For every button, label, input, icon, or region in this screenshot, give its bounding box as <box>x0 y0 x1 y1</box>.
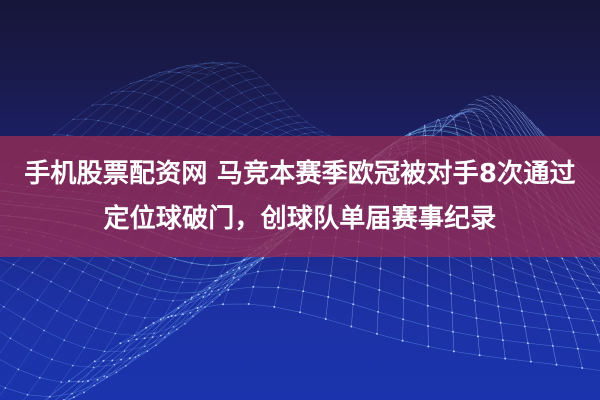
headline-block: 手机股票配资网 马竞本赛季欧冠被对手8次通过 定位球破门，创球队单届赛事纪录 <box>0 136 600 257</box>
headline-line-1: 手机股票配资网 马竞本赛季欧冠被对手8次通过 <box>24 152 576 197</box>
headline-line-2: 定位球破门，创球队单届赛事纪录 <box>103 197 496 242</box>
news-banner: 手机股票配资网 马竞本赛季欧冠被对手8次通过 定位球破门，创球队单届赛事纪录 <box>0 0 600 400</box>
